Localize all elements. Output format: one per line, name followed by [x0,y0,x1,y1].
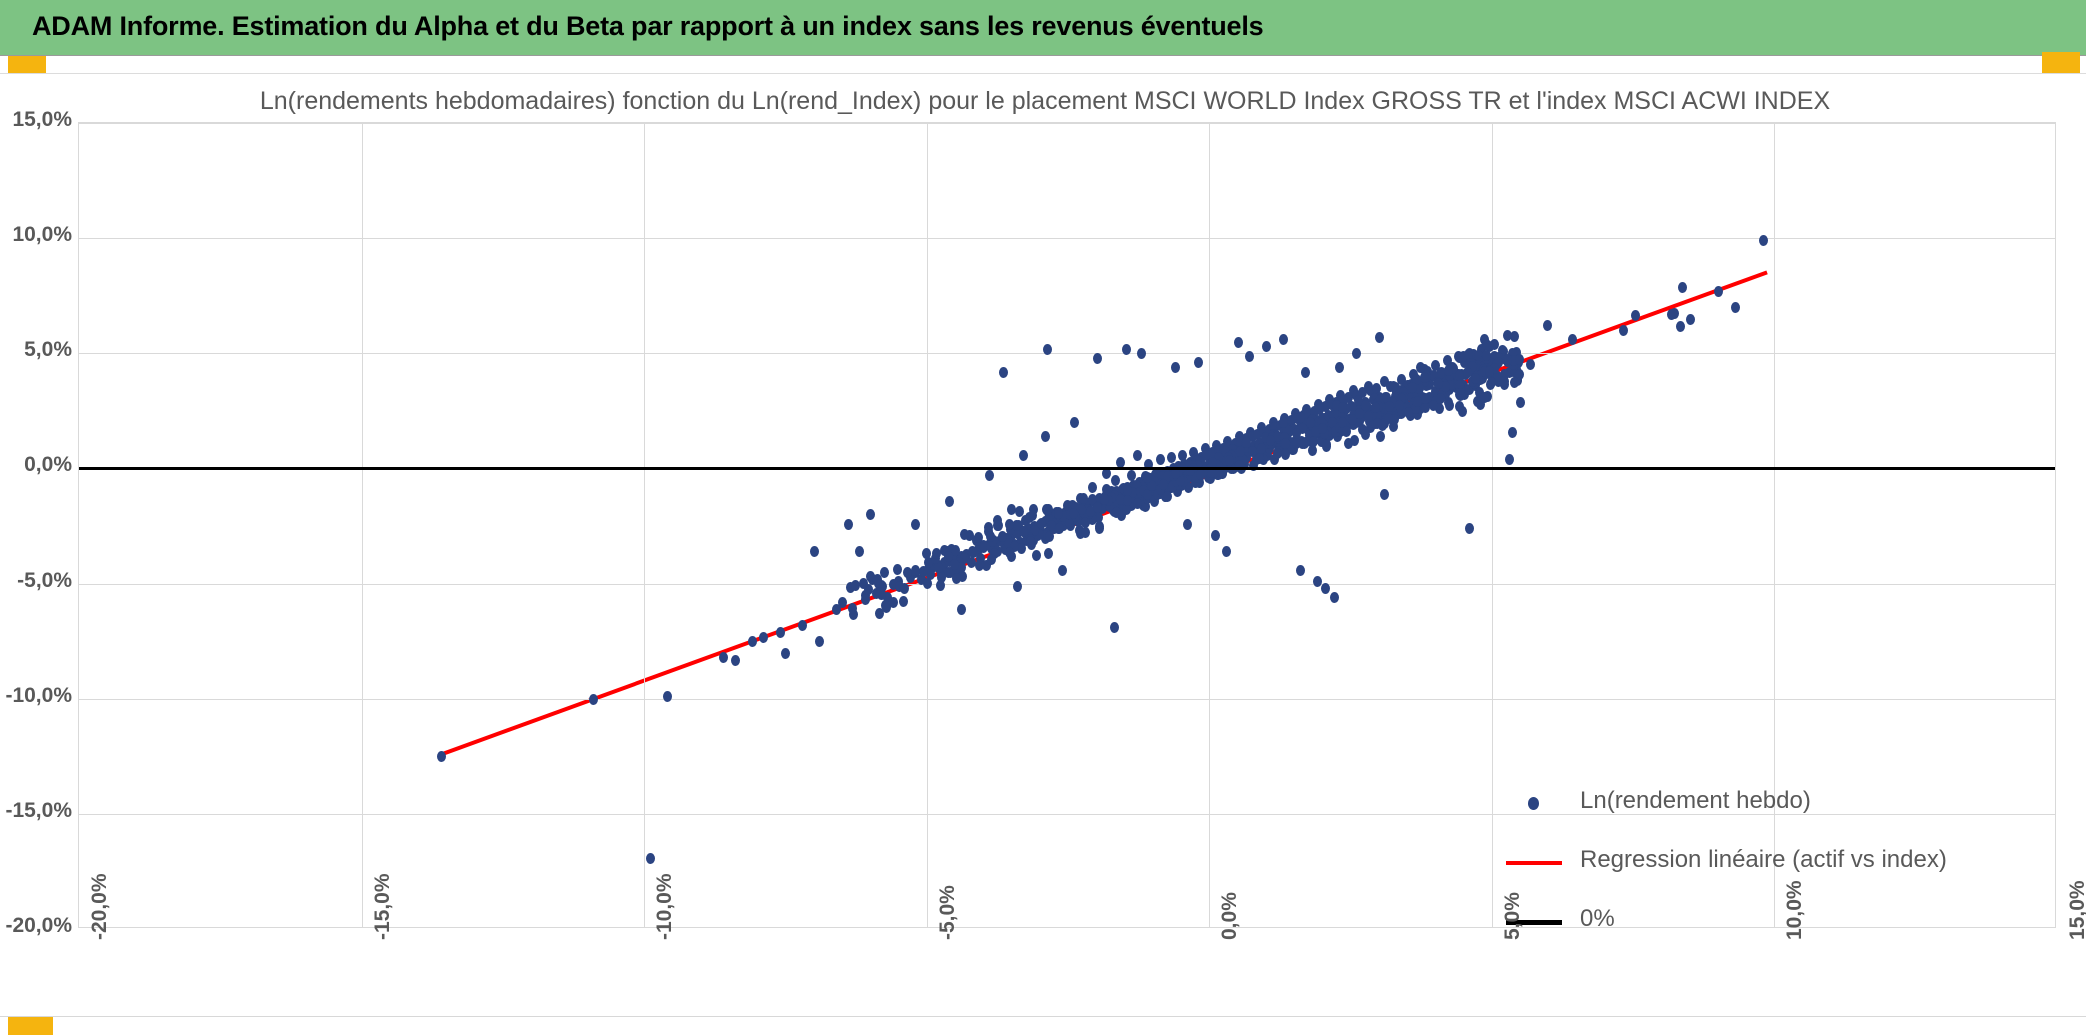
scatter-point [876,587,885,598]
gridline-horizontal [79,699,2055,700]
scatter-point [1395,400,1404,411]
scatter-point [950,559,959,570]
scatter-point [1088,482,1097,493]
corner-tab-right [2042,52,2080,74]
scatter-point [1678,282,1687,293]
scatter-point [1480,392,1489,403]
banner-divider [0,73,2086,74]
gridline-horizontal [79,584,2055,585]
scatter-point [1516,397,1525,408]
scatter-point [1505,454,1514,465]
gridline-vertical [1492,123,1493,927]
scatter-point [1371,402,1380,413]
scatter-point [945,496,954,507]
scatter-point [1095,523,1104,534]
scatter-point [1236,446,1245,457]
scatter-point [1445,400,1454,411]
scatter-point [1055,523,1064,534]
scatter-point [1342,426,1351,437]
legend-item-label: Regression linéaire (actif vs index) [1580,846,1947,874]
scatter-point [1133,498,1142,509]
scatter-point [986,531,995,542]
scatter-point [838,597,847,608]
gridline-vertical [644,123,645,927]
scatter-point [589,694,598,705]
scatter-point [1266,435,1275,446]
scatter-point [1631,310,1640,321]
scatter-point [1490,339,1499,350]
gridline-vertical [1209,123,1210,927]
bottom-divider [0,1016,2086,1017]
scatter-point [1143,472,1152,483]
gridline-vertical [362,123,363,927]
scatter-point [646,853,655,864]
scatter-point [1255,453,1264,464]
x-axis-tick-label: 10,0% [1783,880,1807,940]
zero-reference-line [79,467,2055,470]
legend-dot-icon [1528,797,1539,810]
scatter-point [1167,452,1176,463]
scatter-point [1296,565,1305,576]
scatter-point [1234,337,1243,348]
y-axis-tick-label: 0,0% [0,453,72,477]
scatter-point [810,546,819,557]
scatter-point [957,604,966,615]
gridline-horizontal [79,353,2055,354]
scatter-point [1318,423,1327,434]
y-axis-tick-label: -15,0% [0,799,72,823]
scatter-point [1429,400,1438,411]
scatter-point [1500,376,1509,387]
scatter-point [1019,526,1028,537]
scatter-point [952,573,961,584]
scatter-point [1037,518,1046,529]
scatter-point [1116,457,1125,468]
scatter-point [851,580,860,591]
scatter-point [987,554,996,565]
scatter-point [1309,436,1318,447]
y-axis-tick-label: 15,0% [0,108,72,132]
report-banner: ADAM Informe. Estimation du Alpha et du … [0,0,2086,56]
scatter-point [1526,359,1535,370]
scatter-point [1458,406,1467,417]
scatter-point [875,608,884,619]
scatter-point [848,603,857,614]
scatter-point [844,519,853,530]
scatter-point [1338,402,1347,413]
scatter-point [903,567,912,578]
gridline-horizontal [79,123,2055,124]
x-axis-tick-label: 0,0% [1218,892,1242,940]
legend-item-label: Ln(rendement hebdo) [1580,787,1811,815]
x-axis-tick-label: -15,0% [371,873,395,940]
gridline-vertical [927,123,928,927]
x-axis-tick-label: 15,0% [2066,880,2086,940]
chart-legend: Ln(rendement hebdo)Regression linéaire (… [1498,775,1968,952]
scatter-point [1385,401,1394,412]
corner-tab-left [8,56,46,73]
scatter-point [1281,449,1290,460]
scatter-point [1156,454,1165,465]
scatter-point [936,580,945,591]
scatter-point [1070,417,1079,428]
scatter-point [998,531,1007,542]
scatter-point [1322,439,1331,450]
legend-item-label: 0% [1580,905,1615,933]
x-axis-tick-label: -20,0% [88,873,112,940]
scatter-point [895,581,904,592]
scatter-point [731,655,740,666]
scatter-point [1543,320,1552,331]
scatter-point [1183,519,1192,530]
scatter-point [1296,412,1305,423]
scatter-point [1420,372,1429,383]
legend-item[interactable]: 0% [1498,893,1968,952]
scatter-point [437,751,446,762]
scatter-point [1434,378,1443,389]
scatter-point [1028,510,1037,521]
scatter-point [1069,508,1078,519]
scatter-point [1373,418,1382,429]
scatter-point [974,532,983,543]
y-axis-tick-label: 10,0% [0,223,72,247]
scatter-point [1487,377,1496,388]
y-axis-tick-label: -20,0% [0,914,72,938]
scatter-point [748,636,757,647]
scatter-point [1667,309,1676,320]
scatter-point [1508,427,1517,438]
x-axis-tick-label: -5,0% [936,885,960,940]
scatter-point [975,560,984,571]
scatter-point [1404,407,1413,418]
y-axis-tick-label: 5,0% [0,338,72,362]
scatter-point [1123,485,1132,496]
scatter-point [1686,314,1695,325]
scatter-point [1482,350,1491,361]
legend-item[interactable]: Ln(rendement hebdo) [1498,775,1968,834]
scatter-point [1013,581,1022,592]
scatter-point [1281,438,1290,449]
scatter-point [1043,344,1052,355]
y-axis-tick-label: -5,0% [0,569,72,593]
legend-line-icon [1506,861,1562,865]
x-axis-tick-label: 5,0% [1501,892,1525,940]
scatter-point [1245,351,1254,362]
x-axis-tick-label: -10,0% [653,873,677,940]
scatter-point [1568,334,1577,345]
scatter-point [1225,455,1234,466]
scatter-point [999,367,1008,378]
scatter-point [1515,354,1524,365]
scatter-point [1111,475,1120,486]
scatter-point [759,632,768,643]
scatter-point [1133,450,1142,461]
corner-tab-bottom [8,1017,53,1035]
scatter-point [1026,536,1035,547]
scatter-point [1375,332,1384,343]
scatter-point [1313,576,1322,587]
scatter-point [1122,344,1131,355]
scatter-point [1005,519,1014,530]
scatter-point [1444,365,1453,376]
scatter-point [1485,366,1494,377]
scatter-point [1019,450,1028,461]
scatter-point [1279,417,1288,428]
scatter-point [1714,286,1723,297]
scatter-point [1330,592,1339,603]
chart-page: ADAM Informe. Estimation du Alpha et du … [0,0,2086,1035]
scatter-point [1731,302,1740,313]
scatter-point [922,548,931,559]
scatter-point [1510,331,1519,342]
report-title: ADAM Informe. Estimation du Alpha et du … [32,11,1263,42]
scatter-point [1361,429,1370,440]
y-axis-tick-label: -10,0% [0,684,72,708]
legend-item[interactable]: Regression linéaire (actif vs index) [1498,834,1968,893]
scatter-point [1112,507,1121,518]
scatter-point [776,627,785,638]
